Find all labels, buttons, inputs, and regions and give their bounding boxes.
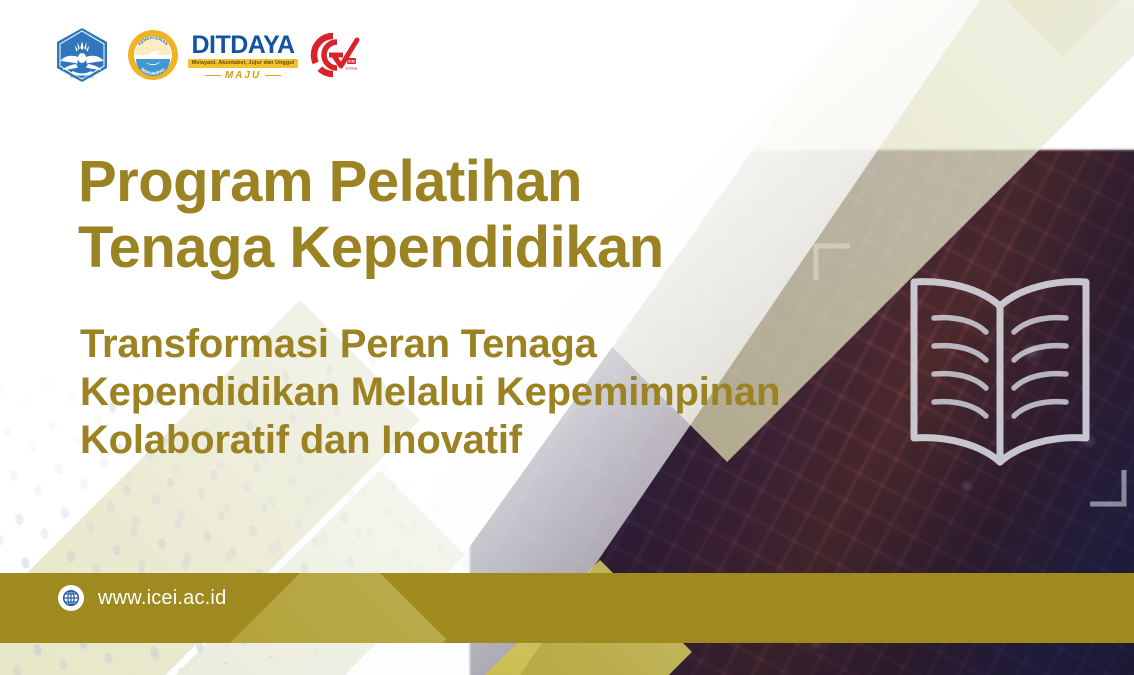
subtitle-line-2: Kependidikan Melalui Kepemimpinan <box>80 368 1030 416</box>
svg-text:KEMENDIKBUD: KEMENDIKBUD <box>70 74 94 78</box>
subtitle-line-3: Kolaboratif dan Inovatif <box>80 416 1030 464</box>
footer-content: www.icei.ac.id <box>58 585 226 611</box>
poster-title: Program Pelatihan Tenaga Kependidikan <box>78 149 838 281</box>
ditdaya-wordmark: DITDAYA <box>191 33 294 58</box>
rule-left <box>205 75 221 77</box>
ditdaya-maju-row: MAJU <box>205 71 281 81</box>
logo-row: KEMENDIKBUD KEMENTERIAN <box>55 26 365 88</box>
poster-canvas: KEMENDIKBUD KEMENTERIAN <box>0 0 1134 675</box>
footer-diagonal-accent <box>199 573 446 643</box>
icei-institute-logo: ICEI Institute <box>307 30 365 85</box>
icei-badge-text: ICEI <box>348 58 356 63</box>
title-line-2: Tenaga Kependidikan <box>78 215 838 281</box>
website-url[interactable]: www.icei.ac.id <box>98 587 226 610</box>
icei-badge-sub: Institute <box>346 66 358 70</box>
poster-subtitle: Transformasi Peran Tenaga Kependidikan M… <box>80 320 1030 464</box>
corner-bracket-icon <box>1040 420 1130 510</box>
ditdaya-tagline: Melayani, Akuntabel, Jujur dan Unggul <box>188 59 299 67</box>
kementerian-pendidikan-dasar-menengah-logo: KEMENTERIAN BERDAMPAK <box>127 29 179 86</box>
maju-wordmark: MAJU <box>225 71 261 81</box>
ditdaya-maju-logo: DITDAYA Melayani, Akuntabel, Jujur dan U… <box>197 30 289 84</box>
rule-right <box>265 75 281 77</box>
globe-icon <box>58 585 84 611</box>
tut-wuri-handayani-logo: KEMENDIKBUD <box>55 27 109 88</box>
title-line-1: Program Pelatihan <box>78 149 838 215</box>
subtitle-line-1: Transformasi Peran Tenaga <box>80 320 1030 368</box>
